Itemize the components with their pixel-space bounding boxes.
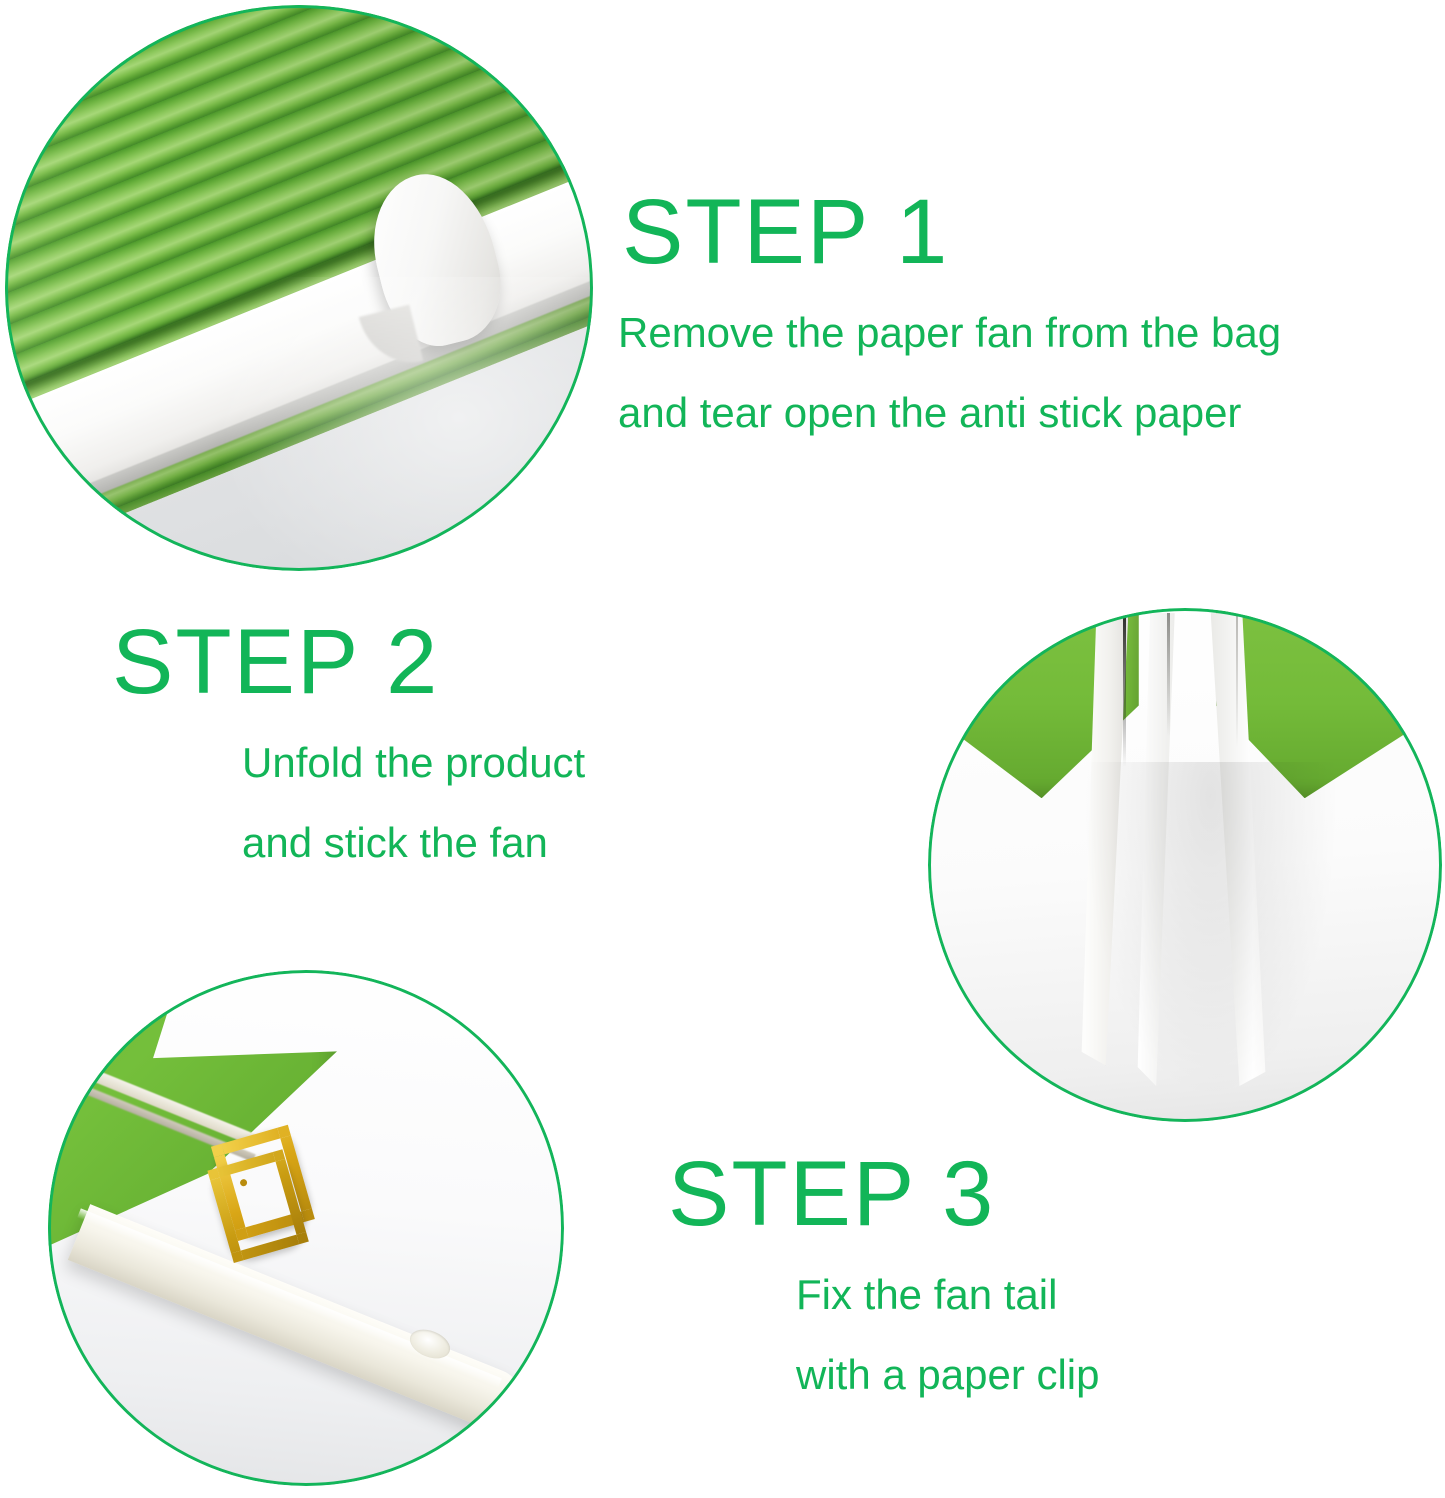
step-3-title: STEP 3: [668, 1148, 1100, 1240]
instruction-infographic: STEP 1 Remove the paper fan from the bag…: [0, 0, 1445, 1498]
fold-line-left: [1123, 613, 1126, 767]
step-1-text-block: STEP 1 Remove the paper fan from the bag…: [618, 186, 1281, 434]
step-3-line-1: Fix the fan tail: [796, 1274, 1100, 1316]
step-1-line-1: Remove the paper fan from the bag: [618, 312, 1281, 354]
step-1-photo: [5, 5, 593, 571]
surface-sheen: [205, 277, 593, 571]
step-1-title: STEP 1: [622, 186, 1281, 278]
fold-line-center: [1167, 613, 1170, 736]
step-2-line-1: Unfold the product: [242, 742, 585, 784]
step-3-photo-inner: [48, 970, 564, 1486]
step-2-title: STEP 2: [112, 616, 585, 708]
step-2-photo-inner: [928, 608, 1442, 1122]
step-2-photo: [928, 608, 1442, 1122]
fold-line-right: [1236, 613, 1238, 747]
blade-shadow: [1082, 762, 1339, 1101]
step-2-line-2: and stick the fan: [242, 822, 585, 864]
step-1-description: Remove the paper fan from the bag and te…: [618, 312, 1281, 434]
step-3-text-block: STEP 3 Fix the fan tail with a paper cli…: [668, 1148, 1100, 1396]
step-2-text-block: STEP 2 Unfold the product and stick the …: [112, 616, 585, 864]
step-1-line-2: and tear open the anti stick paper: [618, 392, 1281, 434]
step-1-photo-inner: [5, 5, 593, 571]
step-3-line-2: with a paper clip: [796, 1354, 1100, 1396]
step-3-description: Fix the fan tail with a paper clip: [668, 1274, 1100, 1396]
step-2-description: Unfold the product and stick the fan: [112, 742, 585, 864]
step-3-photo: [48, 970, 564, 1486]
